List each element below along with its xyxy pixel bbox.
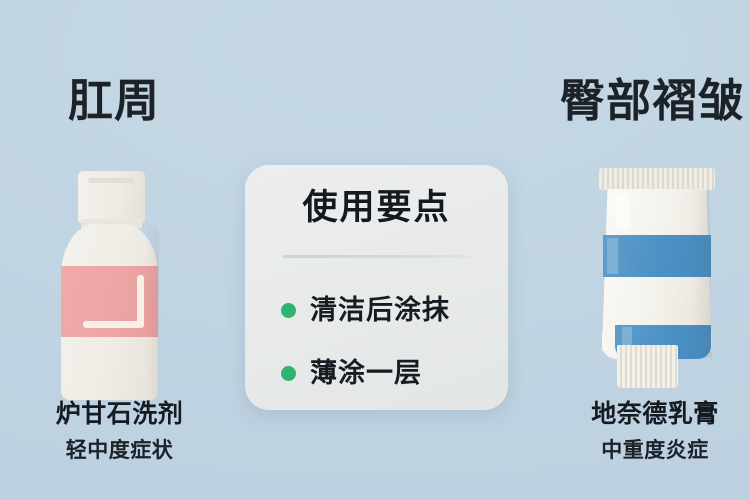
list-item: 薄涂一层 (281, 351, 491, 395)
lotion-bottle-illustration (50, 160, 180, 400)
ointment-tube-illustration (570, 155, 720, 405)
usage-tips-list: 清洁后涂抹 薄涂一层 (281, 288, 491, 414)
left-product-name: 炉甘石洗剂 (17, 400, 222, 430)
bottle-label-mark-horizontal (83, 321, 141, 328)
right-product-severity: 中重度炎症 (555, 438, 750, 463)
usage-tips-card: 使用要点 清洁后涂抹 薄涂一层 (245, 165, 508, 410)
tube-crimped-seal (599, 168, 715, 190)
tube-band-upper-highlight (607, 238, 618, 274)
bullet-dot-icon (281, 303, 296, 318)
list-item: 清洁后涂抹 (281, 288, 491, 332)
bottle-cap-groove (88, 178, 134, 183)
bottle-shading (145, 226, 159, 398)
list-item-label: 清洁后涂抹 (310, 297, 450, 324)
right-product-caption: 地奈德乳膏 中重度炎症 (555, 400, 750, 463)
tube-cap (617, 345, 678, 388)
tube-highlight (616, 193, 629, 231)
left-product-caption: 炉甘石洗剂 轻中度症状 (17, 400, 222, 463)
heading-right-region: 臀部褶皱 (560, 78, 744, 123)
bullet-dot-icon (281, 366, 296, 381)
heading-left-region: 肛周 (68, 78, 160, 123)
card-divider (283, 255, 470, 258)
infographic-canvas: 肛周 臀部褶皱 使用要点 清洁后涂抹 (0, 0, 750, 500)
card-title: 使用要点 (245, 190, 508, 225)
left-product-severity: 轻中度症状 (17, 438, 222, 463)
right-product-name: 地奈德乳膏 (555, 400, 750, 430)
tube-shading (692, 190, 712, 358)
list-item-label: 薄涂一层 (310, 360, 422, 387)
